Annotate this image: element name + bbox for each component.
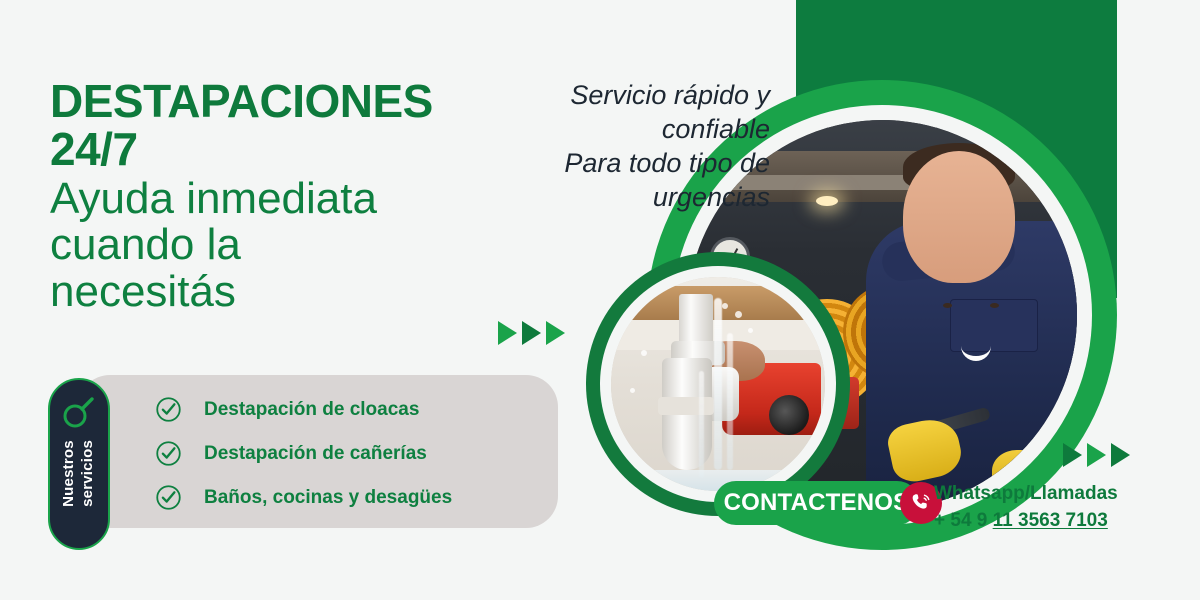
headline-line-3: Ayuda inmediata [50, 174, 377, 223]
contact-phone-prefix: + 54 9 [934, 510, 993, 531]
arrows-left-decoration [498, 321, 565, 345]
tagline-line-4: urgencias [510, 180, 770, 214]
plunger-icon [62, 394, 96, 432]
triangle-right-icon [522, 321, 541, 345]
triangle-right-icon [546, 321, 565, 345]
contact-details: Whatsapp/Llamadas + 54 9 11 3563 7103 [934, 481, 1118, 533]
service-label: Destapación de cloacas [204, 399, 419, 421]
pipe-photo [611, 277, 825, 491]
triangle-right-icon [1087, 443, 1106, 467]
list-item: Destapación de cañerías [155, 440, 452, 467]
headline-secondary: Ayuda inmediata cuando la necesitás [50, 176, 520, 316]
services-tab-label-line-2: servicios [79, 440, 96, 507]
pipe-photo-image [611, 277, 825, 491]
contact-button[interactable]: CONTACTENOS [714, 481, 919, 525]
tagline-line-2: confiable [510, 112, 770, 146]
tagline-block: Servicio rápido y confiable Para todo ti… [510, 78, 770, 214]
services-list: Destapación de cloacas Destapación de ca… [155, 396, 452, 511]
check-circle-icon [155, 396, 182, 423]
service-label: Destapación de cañerías [204, 443, 427, 465]
promo-banner: DESTAPACIONES 24/7 Ayuda inmediata cuand… [0, 0, 1200, 600]
headline-block: DESTAPACIONES 24/7 Ayuda inmediata cuand… [50, 78, 520, 316]
triangle-right-icon [1063, 443, 1082, 467]
services-tab-label-line-1: Nuestros [60, 440, 77, 507]
headline-primary: DESTAPACIONES 24/7 [50, 78, 520, 174]
list-item: Baños, cocinas y desagües [155, 484, 452, 511]
contact-phone[interactable]: + 54 9 11 3563 7103 [934, 508, 1118, 533]
services-tab: Nuestros servicios [48, 378, 110, 550]
services-tab-label: Nuestros servicios [60, 440, 98, 507]
list-item: Destapación de cloacas [155, 396, 452, 423]
headline-line-2: 24/7 [50, 123, 138, 175]
headline-line-1: DESTAPACIONES [50, 75, 433, 127]
check-circle-icon [155, 484, 182, 511]
phone-ring-icon [909, 491, 933, 515]
tagline-line-1: Servicio rápido y [510, 78, 770, 112]
tagline-line-3: Para todo tipo de [510, 146, 770, 180]
triangle-right-icon [498, 321, 517, 345]
triangle-right-icon [1111, 443, 1130, 467]
arrows-right-decoration [1063, 443, 1130, 467]
headline-line-4: cuando la [50, 220, 241, 269]
contact-phone-number: 11 3563 7103 [993, 510, 1108, 531]
headline-line-5: necesitás [50, 267, 236, 316]
check-circle-icon [155, 440, 182, 467]
contact-channels: Whatsapp/Llamadas [934, 483, 1118, 504]
service-label: Baños, cocinas y desagües [204, 487, 452, 509]
